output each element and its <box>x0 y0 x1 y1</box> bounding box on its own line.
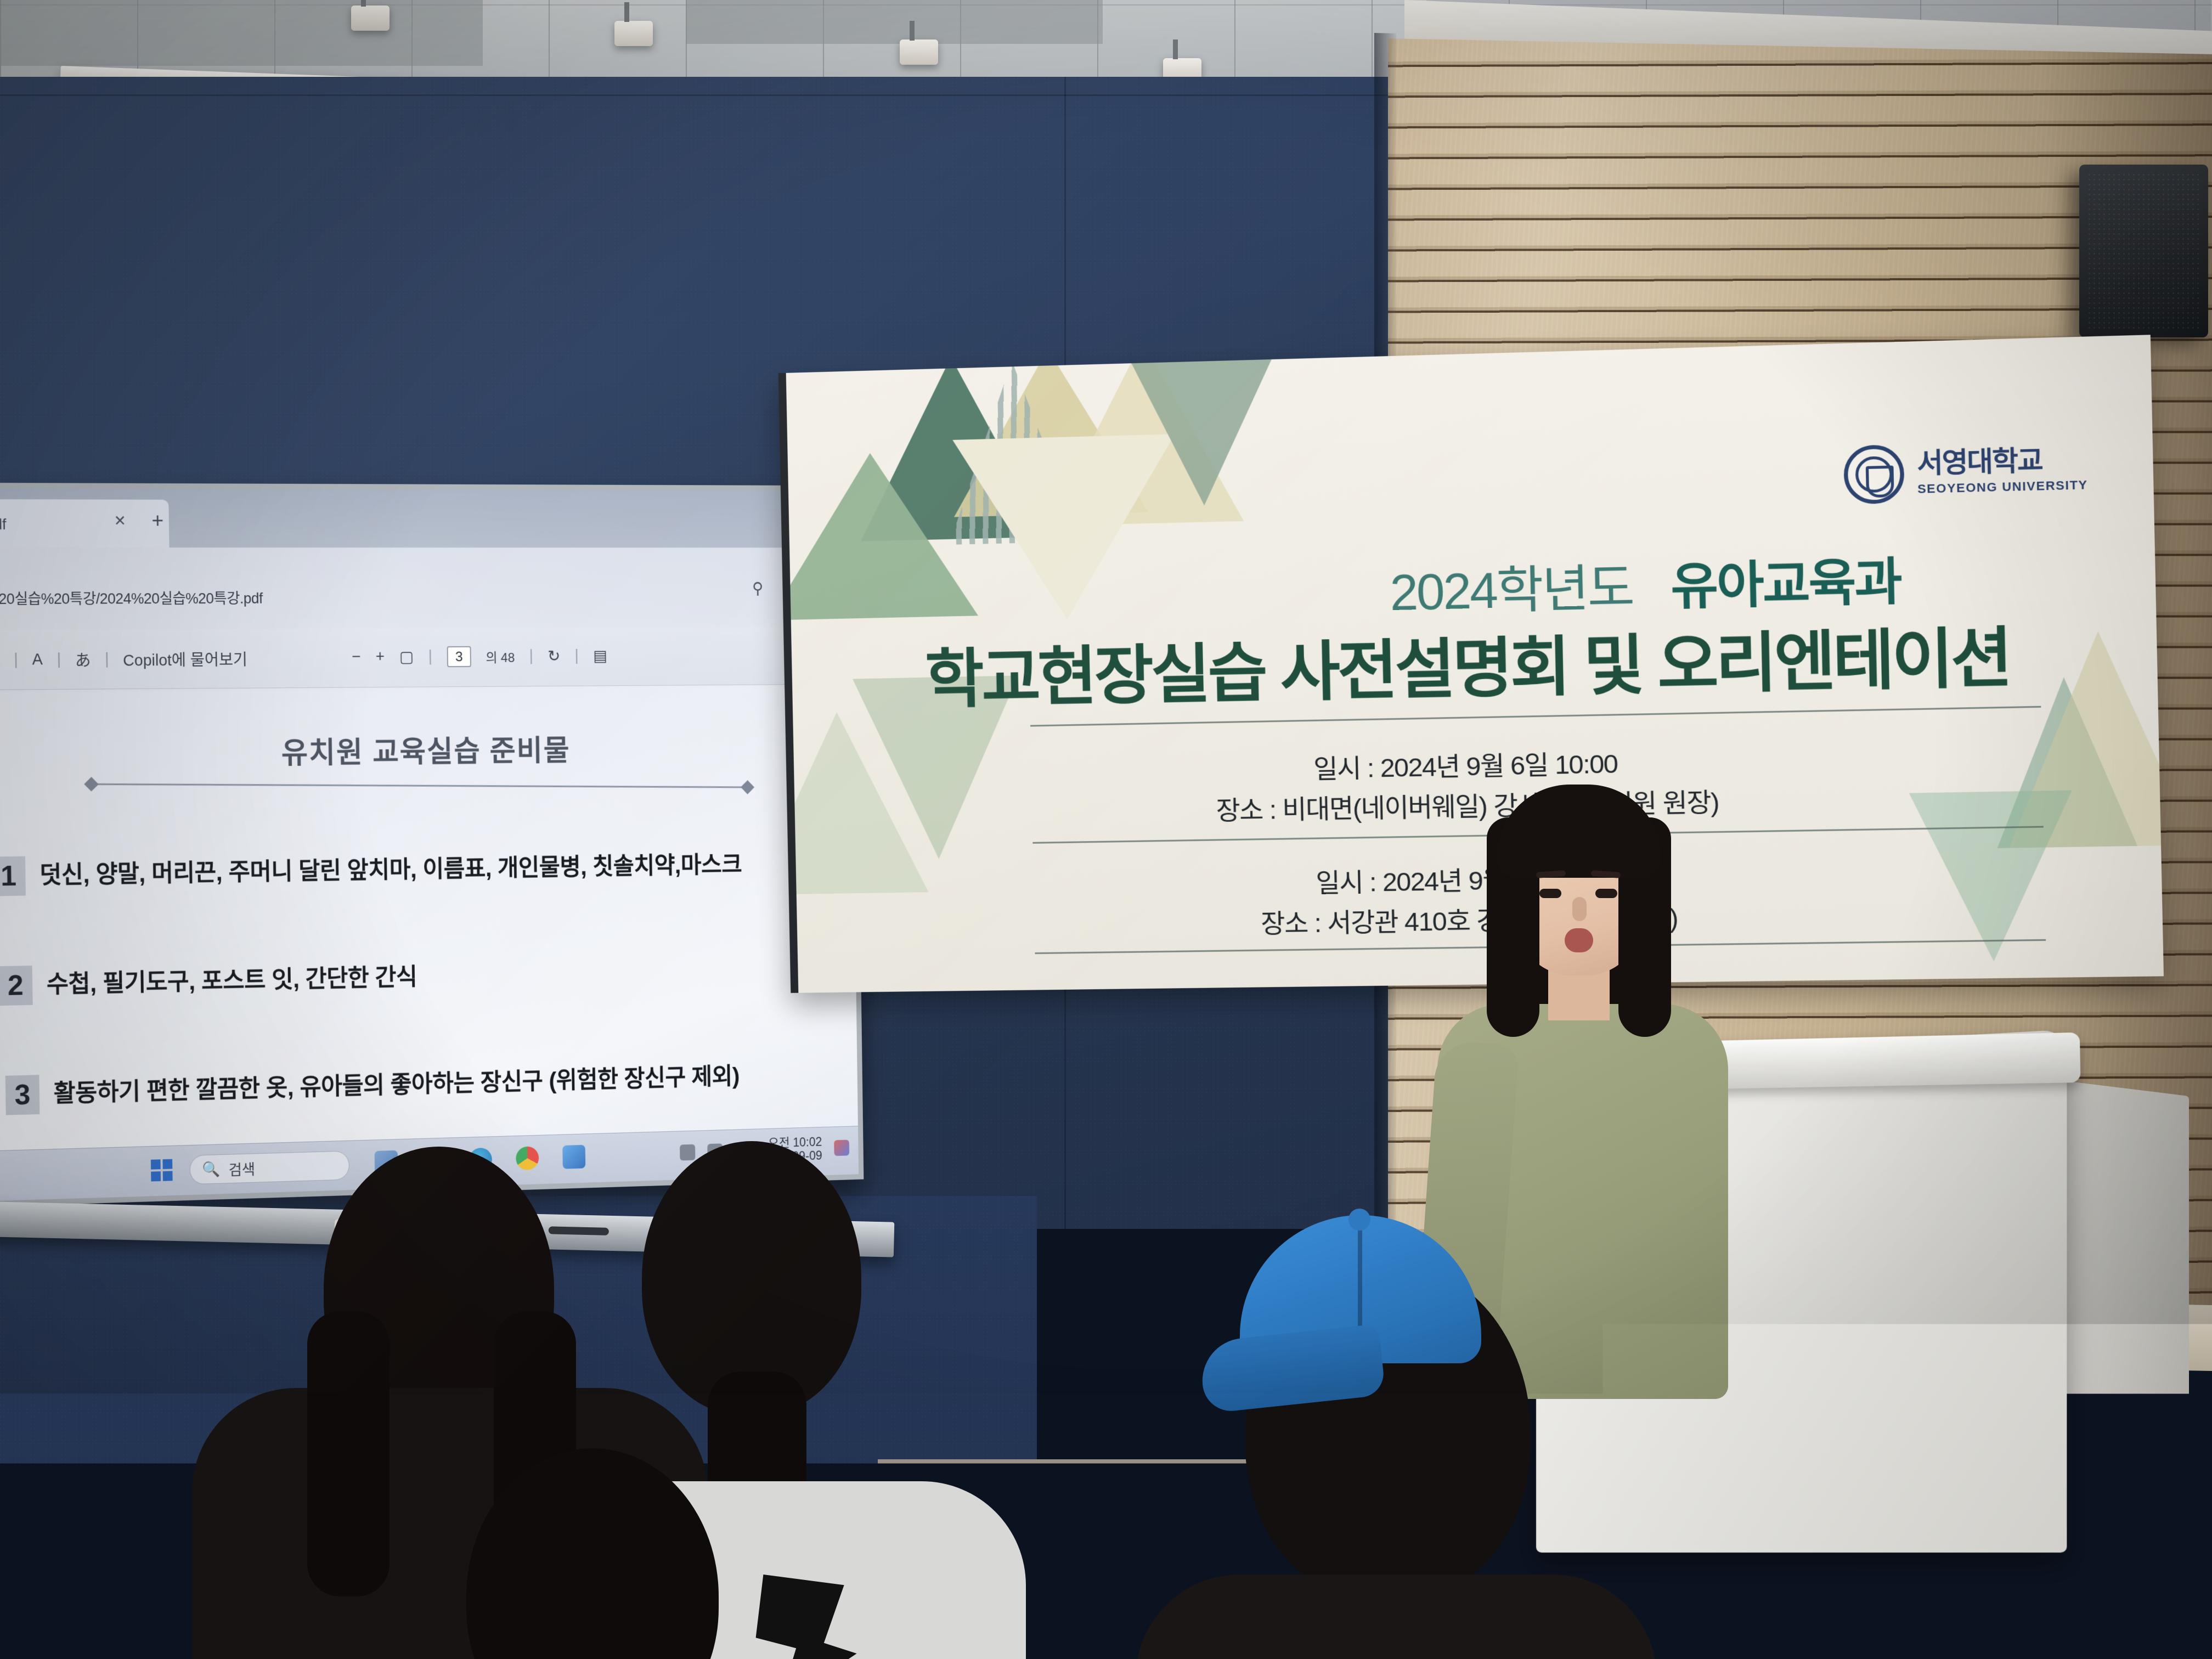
projected-screen: 강.pdf ✕ + 대%20실습%20특강/2024%20실습%20특강.pdf… <box>0 488 859 1201</box>
address-url-text[interactable]: 대%20실습%20특강/2024%20실습%20특강.pdf <box>0 586 263 608</box>
speaker-mesh <box>2087 172 2200 330</box>
page-number-input[interactable]: 3 <box>447 646 471 667</box>
slide-list-item: 1 덧신, 양말, 머리끈, 주머니 달린 앞치마, 이름표, 개인물병, 칫솔… <box>0 846 742 896</box>
layout-icon[interactable]: ▤ <box>593 647 607 665</box>
windows-start-icon[interactable] <box>151 1159 173 1182</box>
browser-tab-title[interactable]: 강.pdf <box>0 512 77 534</box>
university-name-kr: 서영대학교 <box>1917 446 2088 478</box>
notebook[interactable] <box>22 1591 203 1657</box>
ceiling-panel <box>686 0 1103 44</box>
translate-icon[interactable]: あ <box>75 648 91 671</box>
page-total-label: 의 48 <box>486 647 515 665</box>
taskbar-search-input[interactable]: 🔍 검색 <box>189 1150 349 1184</box>
slide-divider <box>92 783 747 788</box>
list-text: 수첩, 필기도구, 포스트 잇, 간단한 간식 <box>46 958 417 1005</box>
banner-triangle <box>778 450 978 620</box>
cap-button <box>1348 1209 1370 1231</box>
presenter-nose <box>1572 897 1587 921</box>
zoom-in-button[interactable]: + <box>375 648 385 665</box>
text-tool-icon[interactable]: A <box>32 651 43 669</box>
pdf-toolbar-center: − + ▢ | 3 의 48 | ↻ | ▤ <box>352 646 607 668</box>
slide-list-item: 2 수첩, 필기도구, 포스트 잇, 간단한 간식 <box>0 958 417 1006</box>
notebook-line <box>38 1628 165 1630</box>
start-pane <box>162 1159 172 1169</box>
network-icon[interactable] <box>680 1144 695 1161</box>
list-number: 1 <box>0 856 26 896</box>
list-text: 활동하기 편한 깔끔한 옷, 유아들의 좋아하는 장신구 (위험한 장신구 제외… <box>53 1057 740 1114</box>
ceiling-spotlight <box>900 39 938 65</box>
notebook-line <box>38 1612 170 1614</box>
list-number: 3 <box>5 1075 40 1115</box>
toolbar-divider: | <box>428 648 433 665</box>
ceiling-spotlight <box>614 21 653 46</box>
zoom-out-button[interactable]: − <box>352 648 361 666</box>
notebook-line <box>38 1645 154 1647</box>
pdf-page-content: 유치원 교육실습 준비물 1 덧신, 양말, 머리끈, 주머니 달린 앞치마, … <box>0 686 859 1206</box>
fit-page-icon[interactable]: ▢ <box>399 647 414 666</box>
notification-icon[interactable] <box>834 1140 849 1156</box>
ceiling-spotlight <box>351 5 390 31</box>
zoom-icon[interactable]: ⚲ <box>752 579 764 598</box>
audience-shoulders <box>1136 1575 1657 1659</box>
projection-whiteboard: 강.pdf ✕ + 대%20실습%20특강/2024%20실습%20특강.pdf… <box>0 483 864 1207</box>
university-name-en: SEOYEONG UNIVERSITY <box>1917 478 2088 496</box>
start-pane <box>151 1159 161 1169</box>
list-number: 2 <box>0 966 33 1006</box>
search-placeholder: 검색 <box>228 1158 255 1180</box>
toolbar-divider: | <box>529 647 533 665</box>
blue-baseball-cap <box>1240 1215 1481 1380</box>
presenter-eye-left <box>1539 889 1561 898</box>
start-pane <box>163 1171 173 1181</box>
presenter-hair-front <box>1497 785 1661 878</box>
new-tab-icon[interactable]: + <box>151 510 163 533</box>
university-logo-text: 서영대학교 SEOYEONG UNIVERSITY <box>1917 446 2088 496</box>
toolbar-divider: | <box>14 651 18 669</box>
banner-year: 2024학년도 <box>1389 560 1633 622</box>
hancom-icon[interactable] <box>562 1145 585 1169</box>
presenter-mouth <box>1565 928 1593 952</box>
search-icon: 🔍 <box>202 1160 220 1178</box>
university-logo: 서영대학교 SEOYEONG UNIVERSITY <box>1843 440 2088 505</box>
banner-department: 유아교육과 <box>1670 554 1901 616</box>
tab-close-icon[interactable]: ✕ <box>114 512 126 529</box>
slide-title: 유치원 교육실습 준비물 <box>0 724 853 775</box>
university-seal-icon <box>1843 444 1905 505</box>
list-text: 덧신, 양말, 머리끈, 주머니 달린 앞치마, 이름표, 개인물병, 칫솔치약… <box>39 846 742 895</box>
lecture-hall-photo: 강.pdf ✕ + 대%20실습%20특강/2024%20실습%20특강.pdf… <box>0 0 2212 1659</box>
audience-hair-strands <box>307 1311 390 1596</box>
toolbar-divider: | <box>105 650 109 668</box>
start-pane <box>151 1171 161 1181</box>
copilot-button[interactable]: Copilot에 물어보기 <box>123 647 247 671</box>
marker[interactable] <box>549 1226 609 1235</box>
banner-triangle <box>1128 354 1277 507</box>
toolbar-divider: | <box>57 651 61 669</box>
pdf-toolbar-left: ✎ | A | あ | Copilot에 물어보기 <box>0 647 247 672</box>
ceiling-speaker <box>2079 165 2208 337</box>
wall-seam <box>0 94 1421 96</box>
ceiling-panel <box>0 0 483 66</box>
slide-list-item: 3 활동하기 편한 깔끔한 옷, 유아들의 좋아하는 장신구 (위험한 장신구 … <box>5 1057 740 1115</box>
chrome-icon[interactable] <box>516 1146 539 1170</box>
presenter-eye-right <box>1595 889 1617 898</box>
toolbar-divider: | <box>574 647 579 665</box>
rotate-icon[interactable]: ↻ <box>548 647 560 665</box>
